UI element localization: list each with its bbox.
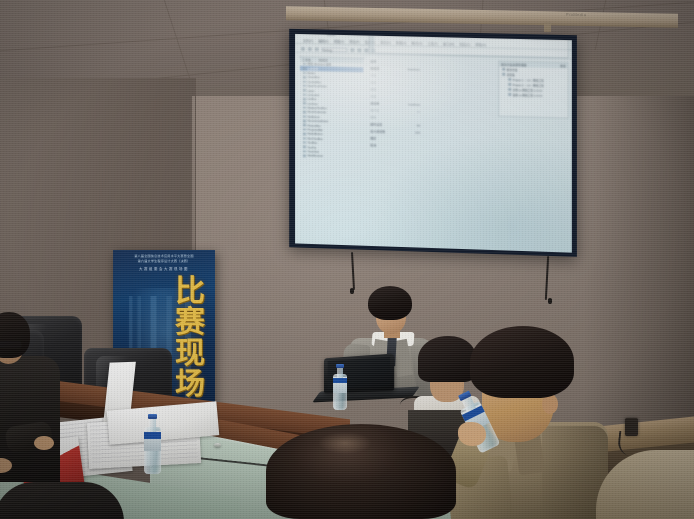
- control-icon: [303, 63, 305, 66]
- foreground-shoulder-right: [596, 450, 694, 519]
- water-bottle-laptop: [333, 364, 347, 410]
- control-icon: [303, 150, 305, 153]
- control-icon: [303, 111, 305, 114]
- projected-ide-window: 文件(F)编辑(E)视图(V)项目(P)生成(B)调试(D)数据(A)格式(O)…: [295, 34, 572, 40]
- judge-left-hair: [0, 312, 30, 358]
- banner-title-char-2: 现: [175, 338, 205, 369]
- drinker-hand: [458, 422, 486, 446]
- solution-tree-label: 示例.cs 网络工程 1.0.0.0: [513, 88, 543, 93]
- control-icon: [303, 128, 305, 131]
- foreground-shoulder-fabric: [0, 482, 124, 519]
- property-value[interactable]: localhost: [408, 102, 420, 106]
- solution-tree-label: 窗体.cs 网络工程 1.0.0.0: [513, 93, 543, 98]
- property-label: 最大连接数: [370, 129, 385, 133]
- config-combo[interactable]: Debug: [322, 47, 348, 52]
- property-label: 用户名: [370, 108, 379, 112]
- property-label: 表名: [370, 80, 376, 84]
- banner-title-char-3: 场: [175, 369, 205, 400]
- foreground-shoulder-fabric-right: [596, 450, 694, 519]
- property-label: 取消: [370, 143, 376, 147]
- property-label: 名称: [370, 59, 376, 63]
- solution-tree-item-5[interactable]: 窗体.cs 网络工程 1.0.0.0: [499, 92, 568, 99]
- solution-tree[interactable]: 解决方案项目集Project 1 -- 1.0 - 网络工程Project 2 …: [499, 67, 568, 99]
- new-icon[interactable]: [301, 46, 305, 50]
- toolbox-tab[interactable]: 数据源: [319, 58, 328, 62]
- bottle-label-band: [333, 378, 347, 384]
- tree-node-icon[interactable]: [508, 83, 511, 86]
- property-row-12[interactable]: 取消: [368, 141, 422, 150]
- control-icon: [303, 80, 305, 83]
- ide-menu-item-1[interactable]: 编辑(E): [318, 38, 328, 43]
- roller-mount-bracket: [544, 22, 551, 32]
- banner-title-char-0: 比: [175, 276, 205, 307]
- property-label: 数据源: [370, 66, 379, 70]
- property-label: 密码: [370, 115, 376, 119]
- bottle-cap: [148, 414, 158, 419]
- property-value[interactable]: DataSet1: [408, 67, 420, 71]
- ide-menu-item-0[interactable]: 文件(F): [303, 38, 313, 43]
- banner-header-text: 第八届全国信息技术应用水平大赛暨全国 第六届大学生程序设计大赛（决赛） 大赛组委…: [119, 254, 209, 273]
- toolbox-item-list[interactable]: 所有 Windows 窗体公共控件ButtonCheckBoxComboBoxD…: [300, 62, 363, 160]
- foreground-shoulder-left: [0, 482, 124, 519]
- tree-node-icon[interactable]: [502, 73, 505, 76]
- toolbox-panel[interactable]: 工具箱 数据源 所有 Windows 窗体公共控件ButtonCheckBoxC…: [299, 56, 364, 60]
- system-tray[interactable]: 14:32: [549, 34, 569, 39]
- toolbox-item-21[interactable]: WebBrowser: [300, 153, 363, 159]
- property-value[interactable]: 100: [415, 130, 420, 134]
- man-drinking-water: [430, 326, 608, 519]
- control-icon: [303, 124, 305, 127]
- glass-stud-1: [214, 443, 221, 447]
- solution-tree-label: Project 1 -- 1.0 - 网络工程: [513, 77, 544, 82]
- control-icon: [303, 115, 305, 118]
- tree-node-icon[interactable]: [502, 68, 505, 71]
- control-icon: [303, 106, 305, 109]
- control-icon: [303, 102, 305, 105]
- toolbox-item-label: WebBrowser: [307, 154, 323, 158]
- design-canvas[interactable]: [424, 59, 497, 61]
- bottle-neck: [337, 367, 343, 378]
- control-icon: [303, 76, 305, 79]
- property-label: 确定: [370, 136, 376, 140]
- property-label: 连接串: [370, 101, 379, 105]
- bottle-label-band: [144, 432, 161, 439]
- control-icon: [303, 146, 305, 149]
- bottle-cap: [336, 364, 344, 368]
- control-icon: [303, 137, 305, 140]
- banner-title-char-1: 赛: [175, 307, 205, 338]
- error-list-gutter: [369, 34, 374, 53]
- photo-scene: ProMedia 文件(F)编辑(E)视图(V)项目(P)生成(B)调试(D)数…: [0, 0, 694, 519]
- property-row-8[interactable]: 密码: [368, 113, 422, 121]
- control-icon: [303, 72, 305, 75]
- control-icon: [303, 85, 305, 88]
- property-value[interactable]: 30: [417, 123, 420, 127]
- judge-left-seated: [0, 312, 72, 482]
- network-icon[interactable]: [555, 34, 559, 38]
- foreground-hair-highlight: [318, 432, 372, 454]
- projected-image: 文件(F)编辑(E)视图(V)项目(P)生成(B)调试(D)数据(A)格式(O)…: [295, 34, 572, 40]
- taskbar-clock[interactable]: 14:32: [561, 34, 569, 38]
- presenter-hair: [368, 286, 412, 320]
- solution-tree-label: 解决方案: [507, 67, 518, 71]
- bottle-neck: [149, 418, 156, 432]
- run-icon[interactable]: [350, 48, 354, 52]
- banner-header-line3: 大赛组委会大赛现场图: [119, 266, 209, 273]
- volume-icon[interactable]: [549, 34, 553, 38]
- cord-tip-right: [548, 298, 552, 304]
- water-bottle-left-table: [144, 414, 161, 474]
- tree-node-icon[interactable]: [508, 78, 511, 81]
- eyeglasses-icon: [0, 340, 22, 349]
- save-icon[interactable]: [315, 47, 319, 51]
- banner-header-line2: 第六届大学生程序设计大赛（决赛）: [119, 259, 209, 264]
- open-icon[interactable]: [308, 47, 312, 51]
- properties-form[interactable]: 名称数据源DataSet1字段表名类型长度连接串localhost用户名sa密码…: [368, 57, 422, 58]
- properties-form-rows[interactable]: 名称数据源DataSet1字段表名类型长度连接串localhost用户名sa密码…: [368, 57, 422, 149]
- control-icon: [303, 98, 305, 101]
- control-icon: [303, 141, 305, 144]
- property-label: 超时设置: [370, 122, 382, 126]
- projection-screen: 文件(F)编辑(E)视图(V)项目(P)生成(B)调试(D)数据(A)格式(O)…: [289, 29, 577, 257]
- judge-left-hand: [34, 436, 54, 450]
- stop-icon[interactable]: [357, 48, 361, 52]
- control-icon: [303, 133, 305, 136]
- roller-brand-label: ProMedia: [566, 12, 586, 17]
- ide-body: 工具箱 数据源 所有 Windows 窗体公共控件ButtonCheckBoxC…: [295, 54, 572, 61]
- tree-node-icon[interactable]: [508, 88, 511, 91]
- control-icon: [303, 154, 305, 157]
- control-icon: [303, 93, 305, 96]
- property-label: 类型: [370, 87, 376, 91]
- projection-surface: 文件(F)编辑(E)视图(V)项目(P)生成(B)调试(D)数据(A)格式(O)…: [295, 34, 572, 253]
- solution-search-label[interactable]: 搜索: [560, 64, 566, 68]
- tree-node-icon[interactable]: [508, 93, 511, 96]
- solution-tree-label: 项目集: [507, 72, 515, 76]
- property-label: 长度: [370, 94, 376, 98]
- ide-menu-item-3[interactable]: 项目(P): [349, 39, 360, 44]
- foreground-head: [266, 424, 456, 519]
- solution-tree-label: Project 2 -- 1.0 - 网络工程: [513, 83, 544, 88]
- property-value[interactable]: sa: [417, 109, 420, 113]
- control-icon: [303, 89, 305, 92]
- property-label: 字段: [370, 73, 376, 77]
- control-icon: [303, 120, 305, 123]
- presenter-laptop: [318, 356, 410, 404]
- property-row-5[interactable]: 长度: [368, 92, 422, 100]
- solution-explorer-panel[interactable]: 解决方案资源管理器 搜索 解决方案项目集Project 1 -- 1.0 - 网…: [498, 61, 569, 119]
- solution-explorer-title: 解决方案资源管理器: [501, 62, 526, 67]
- ide-menu-item-2[interactable]: 视图(V): [334, 39, 345, 44]
- control-icon: [303, 67, 305, 70]
- drinker-hair: [470, 326, 574, 398]
- toolbox-title: 工具箱: [302, 57, 311, 61]
